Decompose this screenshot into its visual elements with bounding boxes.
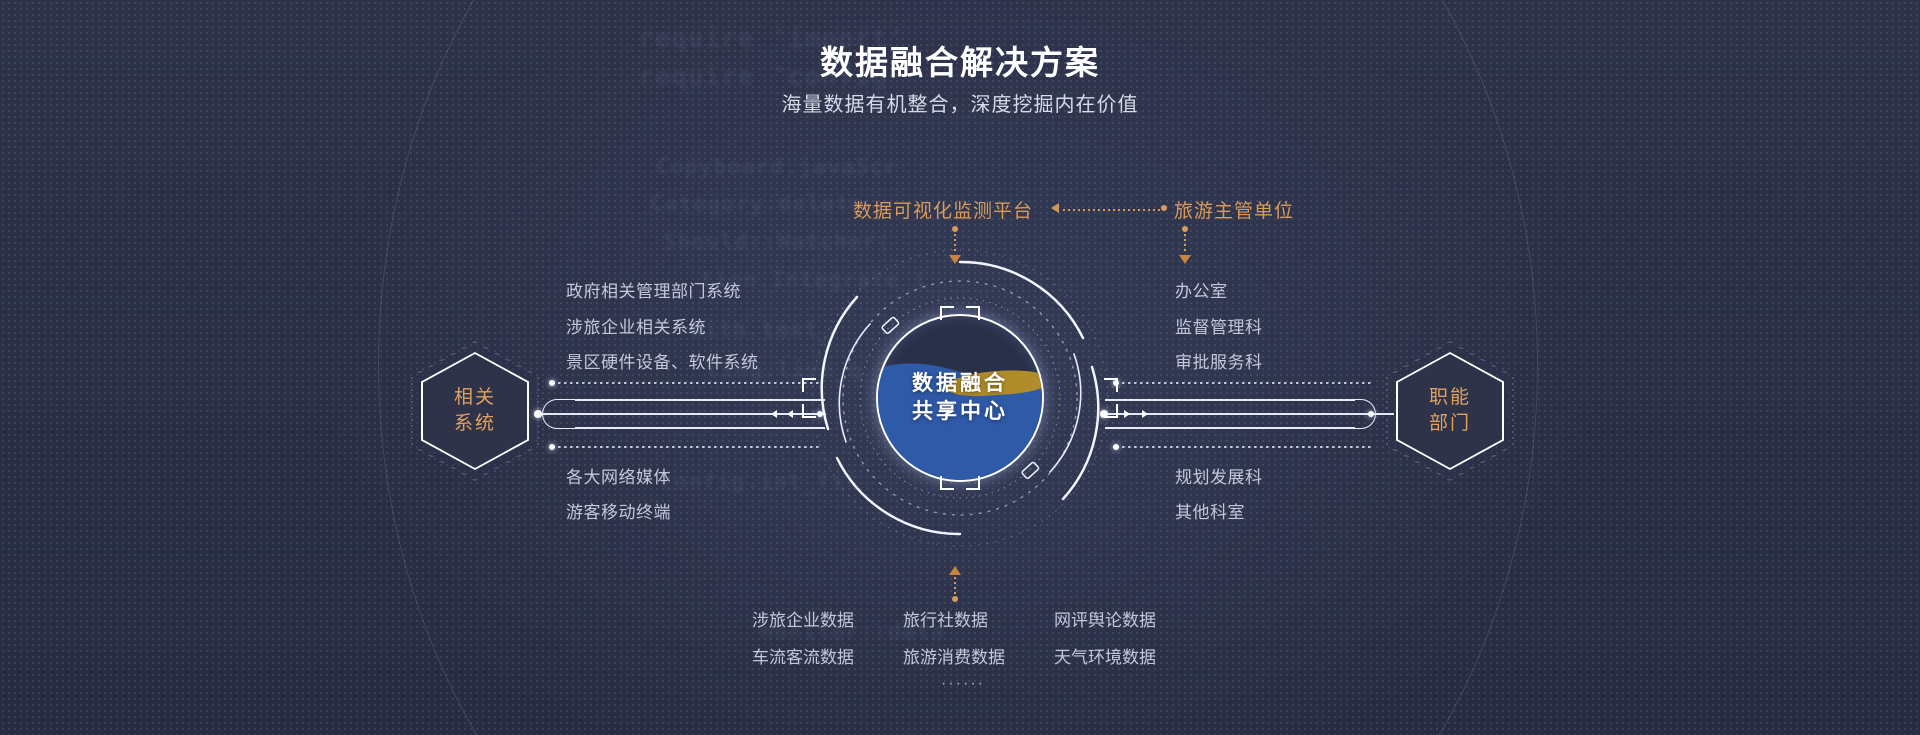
infographic-canvas: require 'import' require 'config' Copybo… xyxy=(0,0,1920,735)
connector-node xyxy=(549,380,555,386)
connector-node xyxy=(549,444,555,450)
left-source-label: 政府相关管理部门系统 xyxy=(566,277,741,302)
connector-node xyxy=(1113,444,1119,450)
visualization-platform-label: 数据可视化监测平台 xyxy=(853,196,1033,223)
connector-arrow-left-icon xyxy=(787,410,793,418)
connector-dotted-line xyxy=(558,382,820,384)
left-node-line2: 系统 xyxy=(454,412,496,436)
center-hub-graphic: 数据融合 共享中心 xyxy=(808,246,1112,550)
right-node-line1: 职能 xyxy=(1429,386,1471,410)
left-source-label: 景区硬件设备、软件系统 xyxy=(566,348,759,373)
bracket-mark-left-top xyxy=(802,378,816,392)
core-circle: 数据融合 共享中心 xyxy=(876,314,1044,482)
connector-axis-line xyxy=(536,413,826,415)
bottom-data-label: 天气环境数据 xyxy=(1054,643,1156,668)
connector-arrow-right-icon xyxy=(1124,410,1130,418)
bracket-mark-left-bottom xyxy=(802,404,816,418)
right-department-label: 规划发展科 xyxy=(1175,463,1263,488)
center-line1: 数据融合 xyxy=(912,370,1008,398)
left-node-line1: 相关 xyxy=(454,386,496,410)
connector-arrow-left-icon xyxy=(771,410,777,418)
flow-arrow-left-icon xyxy=(1051,203,1059,213)
page-title: 数据融合解决方案 xyxy=(0,36,1920,84)
left-source-label: 游客移动终端 xyxy=(566,498,671,523)
connector-dotted-line xyxy=(1122,446,1372,448)
right-node-text: 职能 部门 xyxy=(1386,341,1514,481)
left-source-label: 各大网络媒体 xyxy=(566,463,671,488)
right-department-label: 审批服务科 xyxy=(1175,348,1263,373)
bottom-data-label: 涉旅企业数据 xyxy=(752,606,854,631)
connector-node xyxy=(1368,411,1374,417)
bottom-data-label: 网评舆论数据 xyxy=(1054,606,1156,631)
left-node-text: 相关 系统 xyxy=(411,341,539,481)
feeder-dot xyxy=(952,596,958,602)
bottom-data-label: 旅游消费数据 xyxy=(903,643,1005,668)
right-department-label: 办公室 xyxy=(1175,277,1228,302)
connector-line xyxy=(575,427,825,429)
flow-endpoint-dot xyxy=(1161,205,1167,211)
bottom-data-label: 旅行社数据 xyxy=(903,606,988,631)
background-code-text: Category.delete xyxy=(650,192,864,217)
feeder-arrow-up-icon xyxy=(949,566,961,575)
right-department-label: 其他科室 xyxy=(1175,498,1245,523)
connector-dotted-line xyxy=(1122,382,1372,384)
tourism-authority-label: 旅游主管单位 xyxy=(1174,196,1294,223)
connector-line xyxy=(1105,427,1355,429)
feeder-arrow-down-icon xyxy=(1179,255,1191,264)
connector-line xyxy=(1105,399,1355,401)
right-node-line2: 部门 xyxy=(1429,412,1471,436)
right-department-label: 监督管理科 xyxy=(1175,313,1263,338)
connector-dotted-line xyxy=(558,446,820,448)
feeder-line xyxy=(954,577,956,595)
right-node-hexagon[interactable]: 职能 部门 xyxy=(1386,341,1514,481)
center-line2: 共享中心 xyxy=(912,398,1008,426)
feeder-dot xyxy=(952,226,958,232)
bottom-data-more: ······ xyxy=(941,675,985,693)
flow-dotted-line xyxy=(1063,209,1163,211)
left-node-hexagon[interactable]: 相关 系统 xyxy=(411,341,539,481)
connector-arrow-right-icon xyxy=(1142,410,1148,418)
feeder-line xyxy=(1184,234,1186,254)
center-hub-text: 数据融合 共享中心 xyxy=(878,316,1042,480)
bottom-data-label: 车流客流数据 xyxy=(752,643,854,668)
bracket-mark-right-bottom xyxy=(1104,404,1118,418)
left-source-label: 涉旅企业相关系统 xyxy=(566,313,706,338)
connector-line xyxy=(575,399,825,401)
bracket-mark-right-top xyxy=(1104,378,1118,392)
page-subtitle: 海量数据有机整合，深度挖掘内在价值 xyxy=(0,88,1920,117)
background-code-text: Copyboard.javaScr xyxy=(656,155,898,180)
feeder-dot xyxy=(1182,226,1188,232)
